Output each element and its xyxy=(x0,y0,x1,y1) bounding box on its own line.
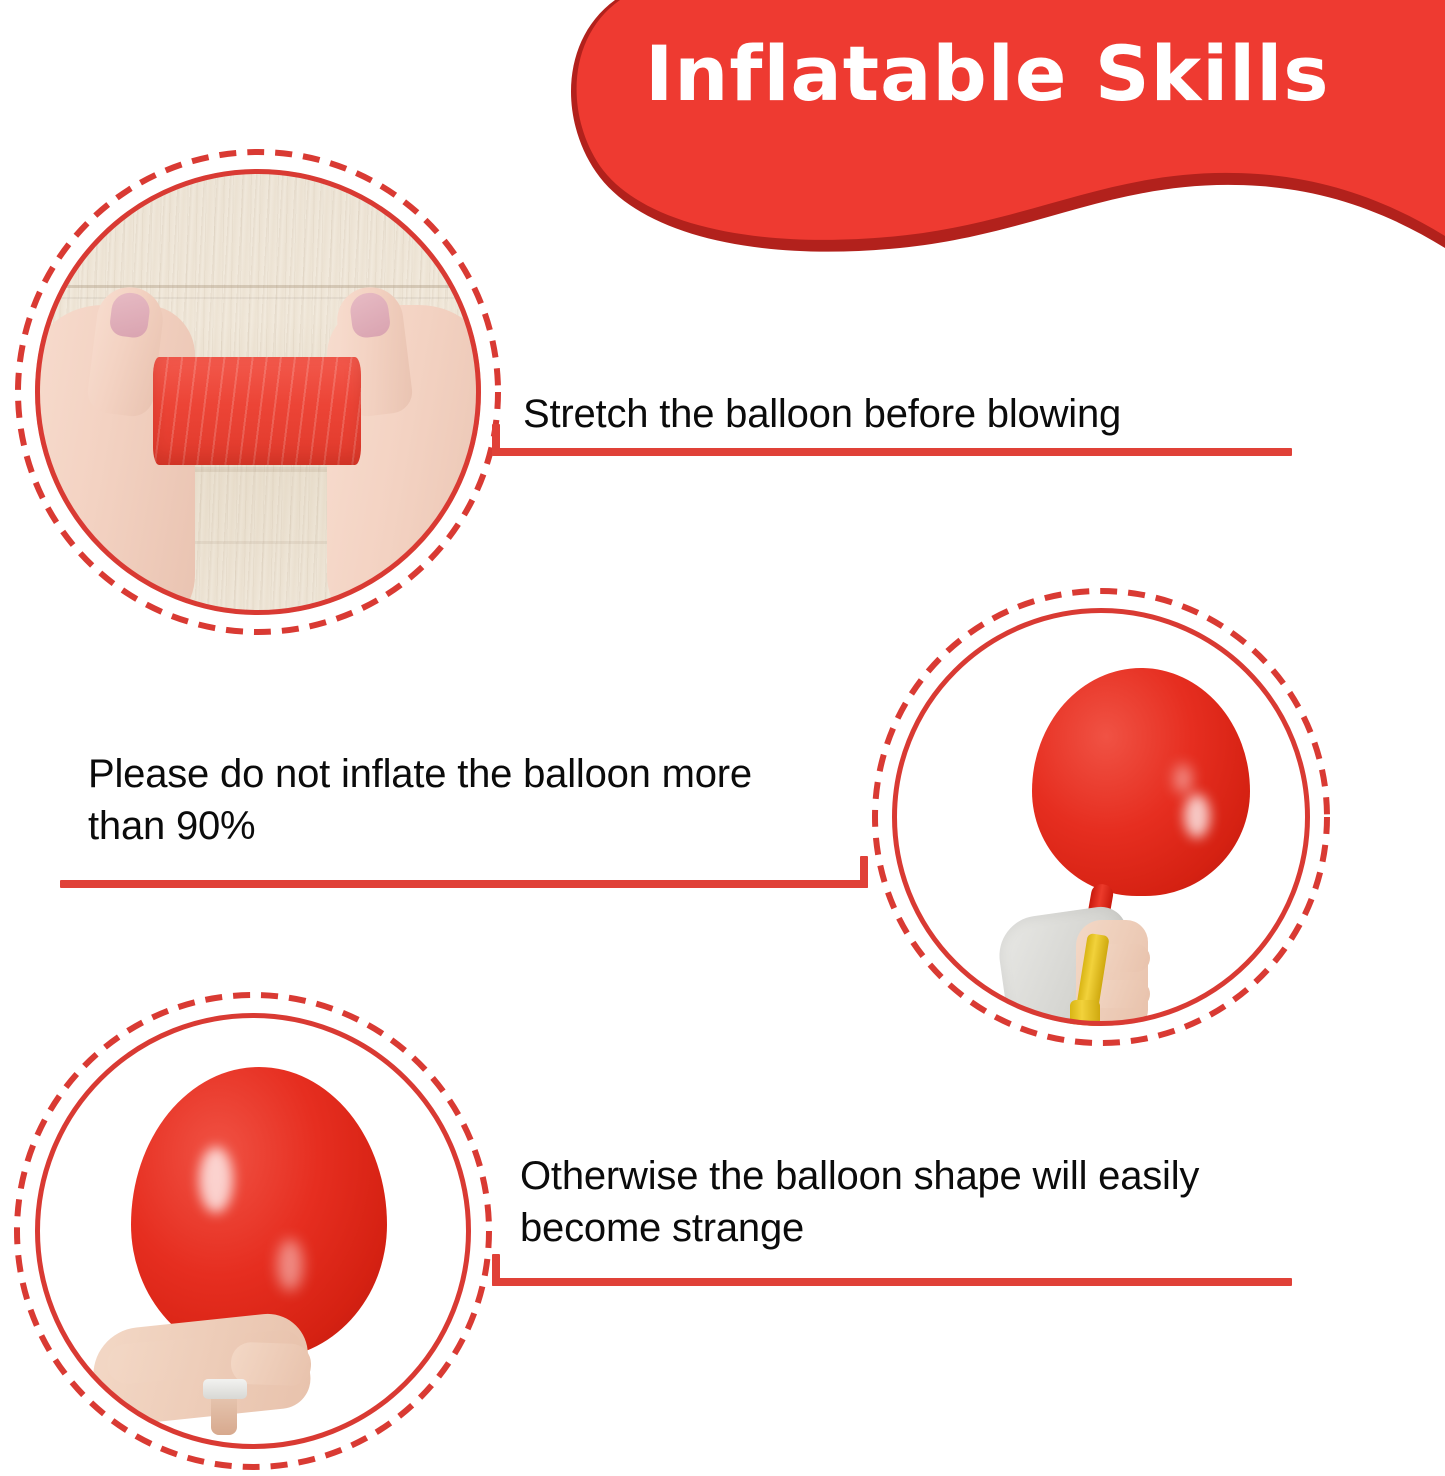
step-2-caption: Please do not inflate the balloon more t… xyxy=(88,748,878,852)
photo-stretch-balloon xyxy=(35,169,481,615)
clip xyxy=(203,1379,247,1399)
step-1-photo-circle xyxy=(8,142,508,642)
photo-inflated-balloon-pump xyxy=(892,608,1310,1026)
step-1-caption: Stretch the balloon before blowing xyxy=(523,388,1283,440)
page-title: Inflatable Skills xyxy=(645,34,1440,114)
infographic-canvas: Inflatable Skills Stretch the balloon be… xyxy=(0,0,1445,1476)
step-2-underline-hook xyxy=(860,856,868,888)
step-2-underline xyxy=(60,880,868,888)
step-3-underline-hook xyxy=(492,1254,500,1286)
step-3-underline xyxy=(492,1278,1292,1286)
inflated-balloon xyxy=(1032,668,1250,896)
step-2-photo-circle xyxy=(866,582,1336,1052)
step-3-caption-line-2: become strange xyxy=(520,1202,1310,1254)
pump-body xyxy=(1070,1000,1100,1026)
step-3-caption-line-1: Otherwise the balloon shape will easily xyxy=(520,1150,1310,1202)
photo-overinflated-balloon xyxy=(35,1013,471,1449)
step-3-caption: Otherwise the balloon shape will easily … xyxy=(520,1150,1310,1254)
step-2-caption-line-1: Please do not inflate the balloon more xyxy=(88,748,878,800)
stretched-balloon xyxy=(153,357,361,465)
step-2-caption-line-2: than 90% xyxy=(88,800,878,852)
step-1-underline xyxy=(492,448,1292,456)
step-3-photo-circle xyxy=(8,986,498,1476)
step-1-underline-hook xyxy=(492,424,500,452)
plank-seam xyxy=(35,285,481,288)
